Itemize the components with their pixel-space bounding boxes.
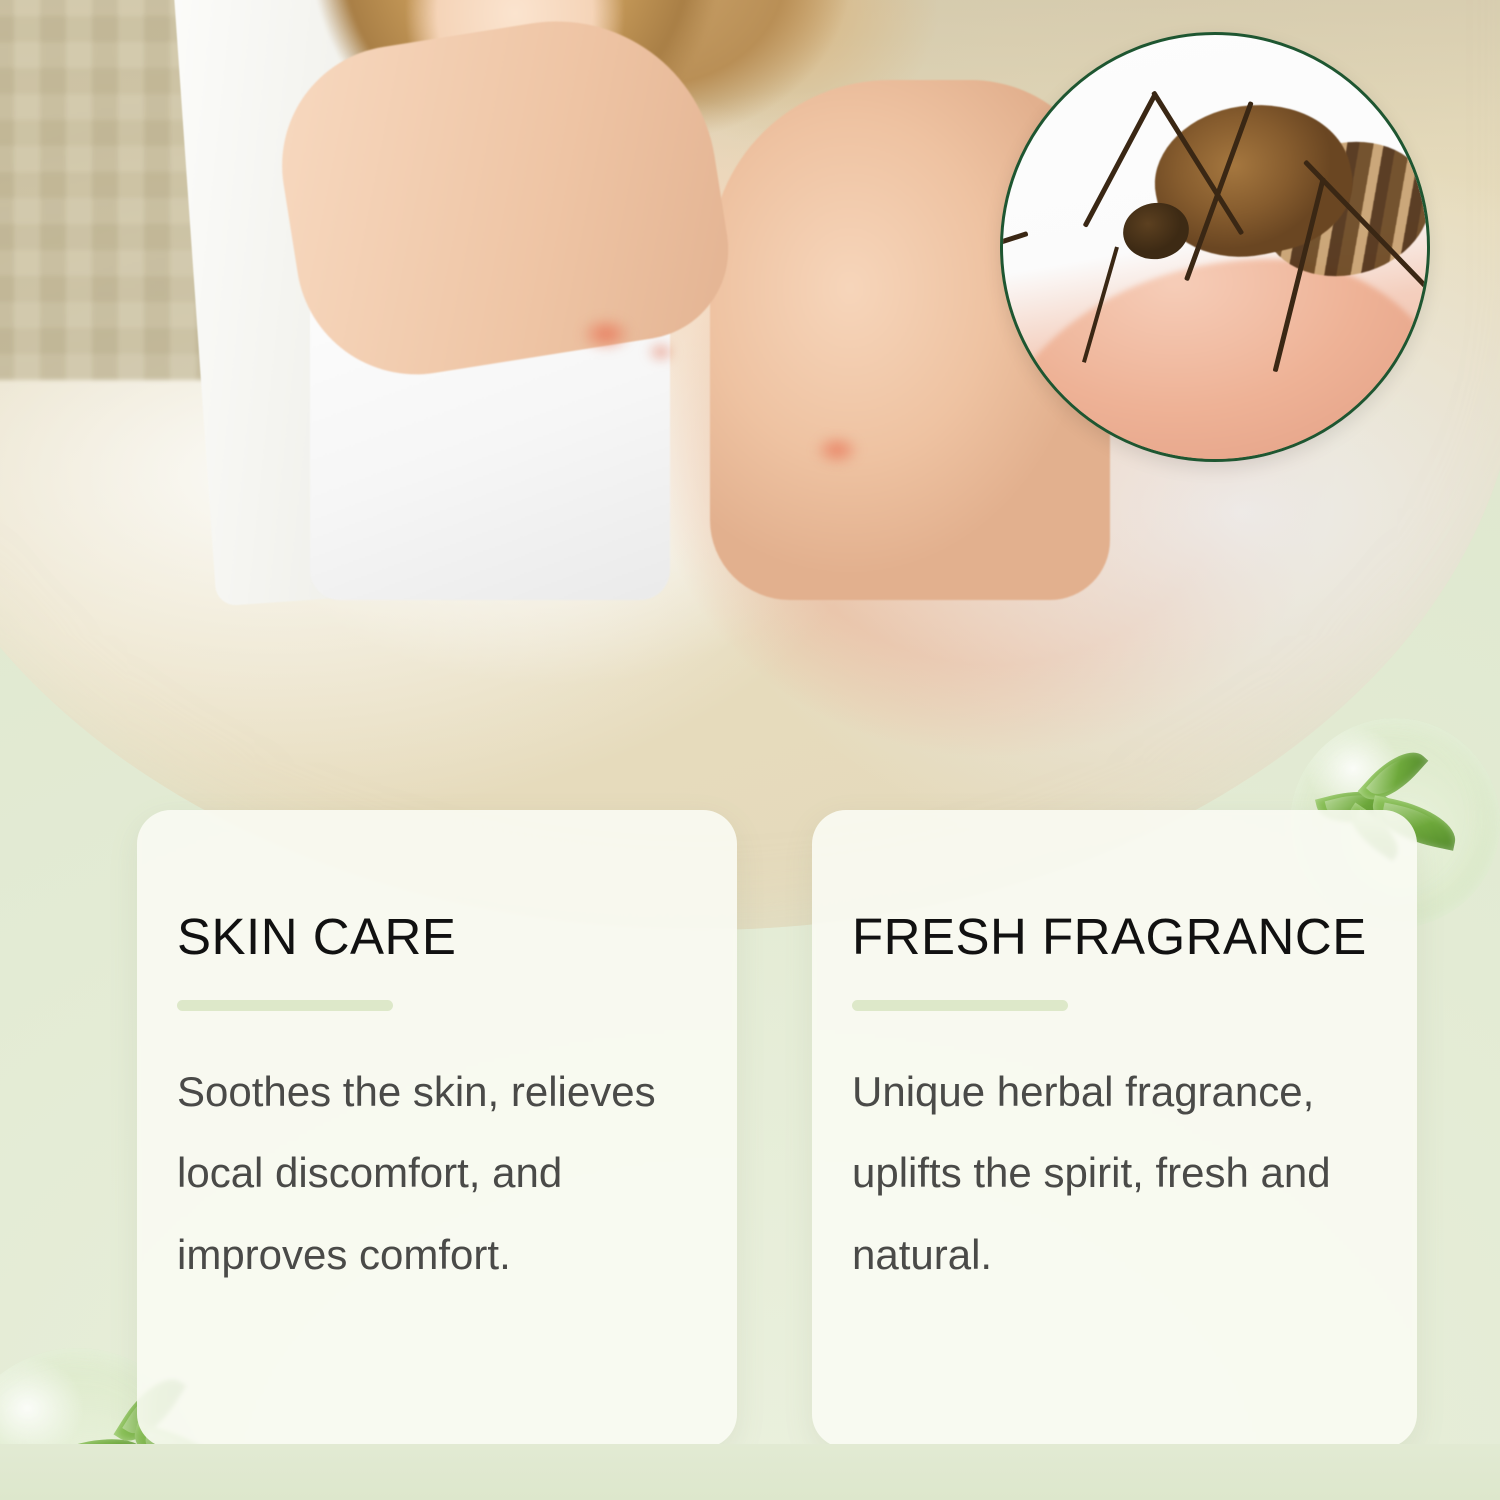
girl-face (390, 0, 640, 170)
feature-card-body: Unique herbal fragrance, uplifts the spi… (852, 1051, 1373, 1297)
bed-headboard (0, 0, 240, 380)
mosquito-leg (1000, 231, 1029, 285)
feature-card-body: Soothes the skin, relieves local discomf… (177, 1051, 693, 1297)
girl-arm (265, 0, 741, 392)
white-tshirt (310, 170, 670, 600)
mosquito-bite-icon (570, 310, 642, 358)
feature-card-rule (852, 1000, 1068, 1011)
skin-surface (1000, 259, 1430, 462)
mosquito-bite-icon (640, 336, 682, 368)
feature-card-skin-care[interactable]: SKIN CARE Soothes the skin, relieves loc… (137, 810, 737, 1448)
feature-card-fresh-fragrance[interactable]: FRESH FRAGRANCE Unique herbal fragrance,… (812, 810, 1417, 1448)
white-chair (164, 0, 427, 606)
feature-card-rule (177, 1000, 393, 1011)
feature-card-title: FRESH FRAGRANCE (852, 910, 1373, 964)
feature-card-title: SKIN CARE (177, 910, 693, 964)
mosquito-inset-photo (1000, 32, 1430, 462)
girl-hair (310, 0, 740, 180)
bottom-strip (0, 1444, 1500, 1500)
feature-card-content: SKIN CARE Soothes the skin, relieves loc… (137, 810, 737, 1296)
mosquito-bite-icon (805, 428, 869, 472)
product-feature-banner: SKIN CARE Soothes the skin, relieves loc… (0, 0, 1500, 1500)
feature-card-content: FRESH FRAGRANCE Unique herbal fragrance,… (812, 810, 1417, 1296)
